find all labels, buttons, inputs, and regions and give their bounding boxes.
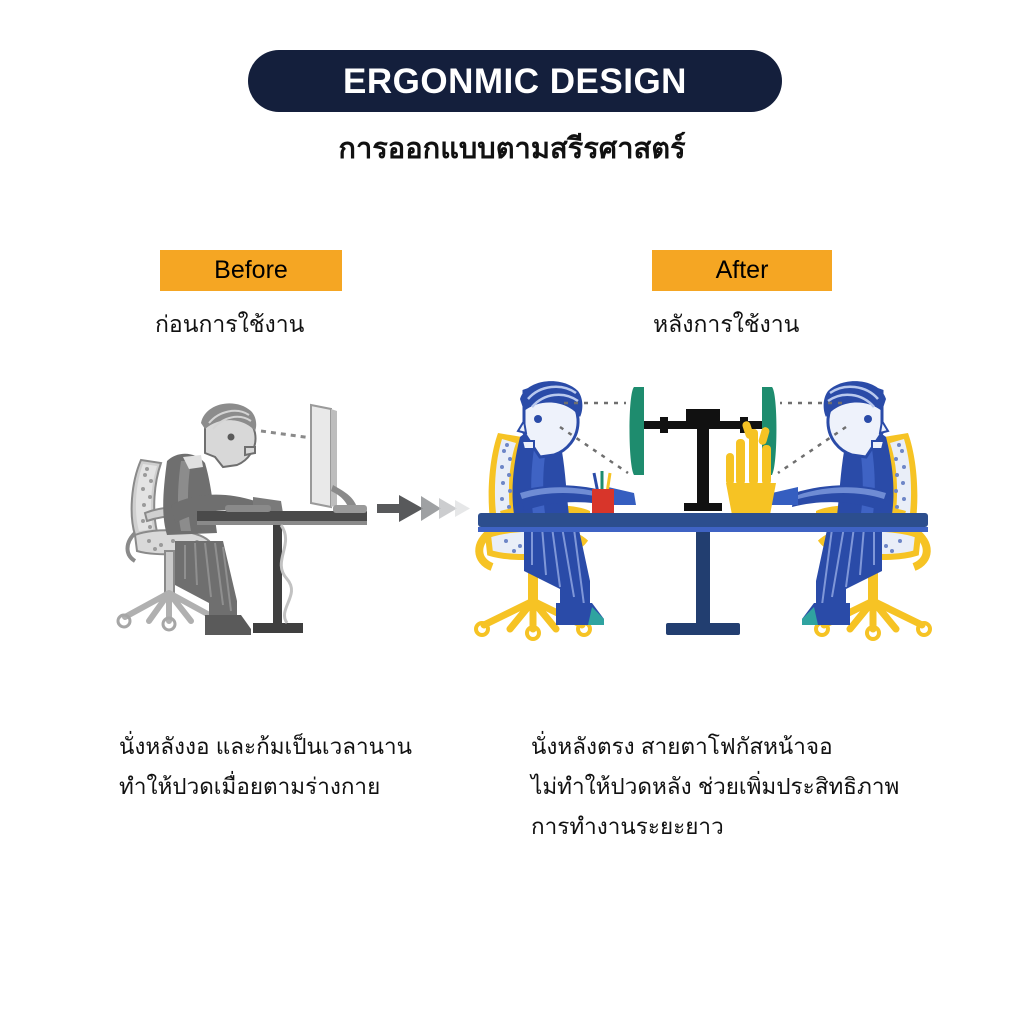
pen-cup (592, 471, 614, 515)
badge-before: Before (160, 250, 342, 291)
slouched-person-at-desk-icon (105, 365, 405, 650)
person-after-right (770, 381, 930, 639)
caption-before: นั่งหลังงอ และก้มเป็นเวลานาน ทำให้ปวดเมื… (119, 727, 519, 807)
illustration-after (468, 365, 938, 650)
two-people-upright-dual-monitor-desk-icon (468, 365, 938, 650)
title-pill: ERGONMIC DESIGN (248, 50, 782, 112)
page-subtitle: การออกแบบตามสรีรศาสตร์ (0, 125, 1024, 171)
page-title: ERGONMIC DESIGN (343, 64, 687, 99)
badge-after-label: After (716, 258, 769, 283)
infographic-canvas: ERGONMIC DESIGN การออกแบบตามสรีรศาสตร์ B… (0, 0, 1024, 1024)
sublabel-after: หลังการใช้งาน (653, 313, 799, 336)
sublabel-before: ก่อนการใช้งาน (155, 313, 304, 336)
caption-after: นั่งหลังตรง สายตาโฟกัสหน้าจอ ไม่ทำให้ปวด… (531, 727, 1001, 847)
illustration-before (105, 365, 405, 650)
badge-before-label: Before (214, 258, 288, 283)
potted-plant (726, 420, 776, 515)
badge-after: After (652, 250, 832, 291)
